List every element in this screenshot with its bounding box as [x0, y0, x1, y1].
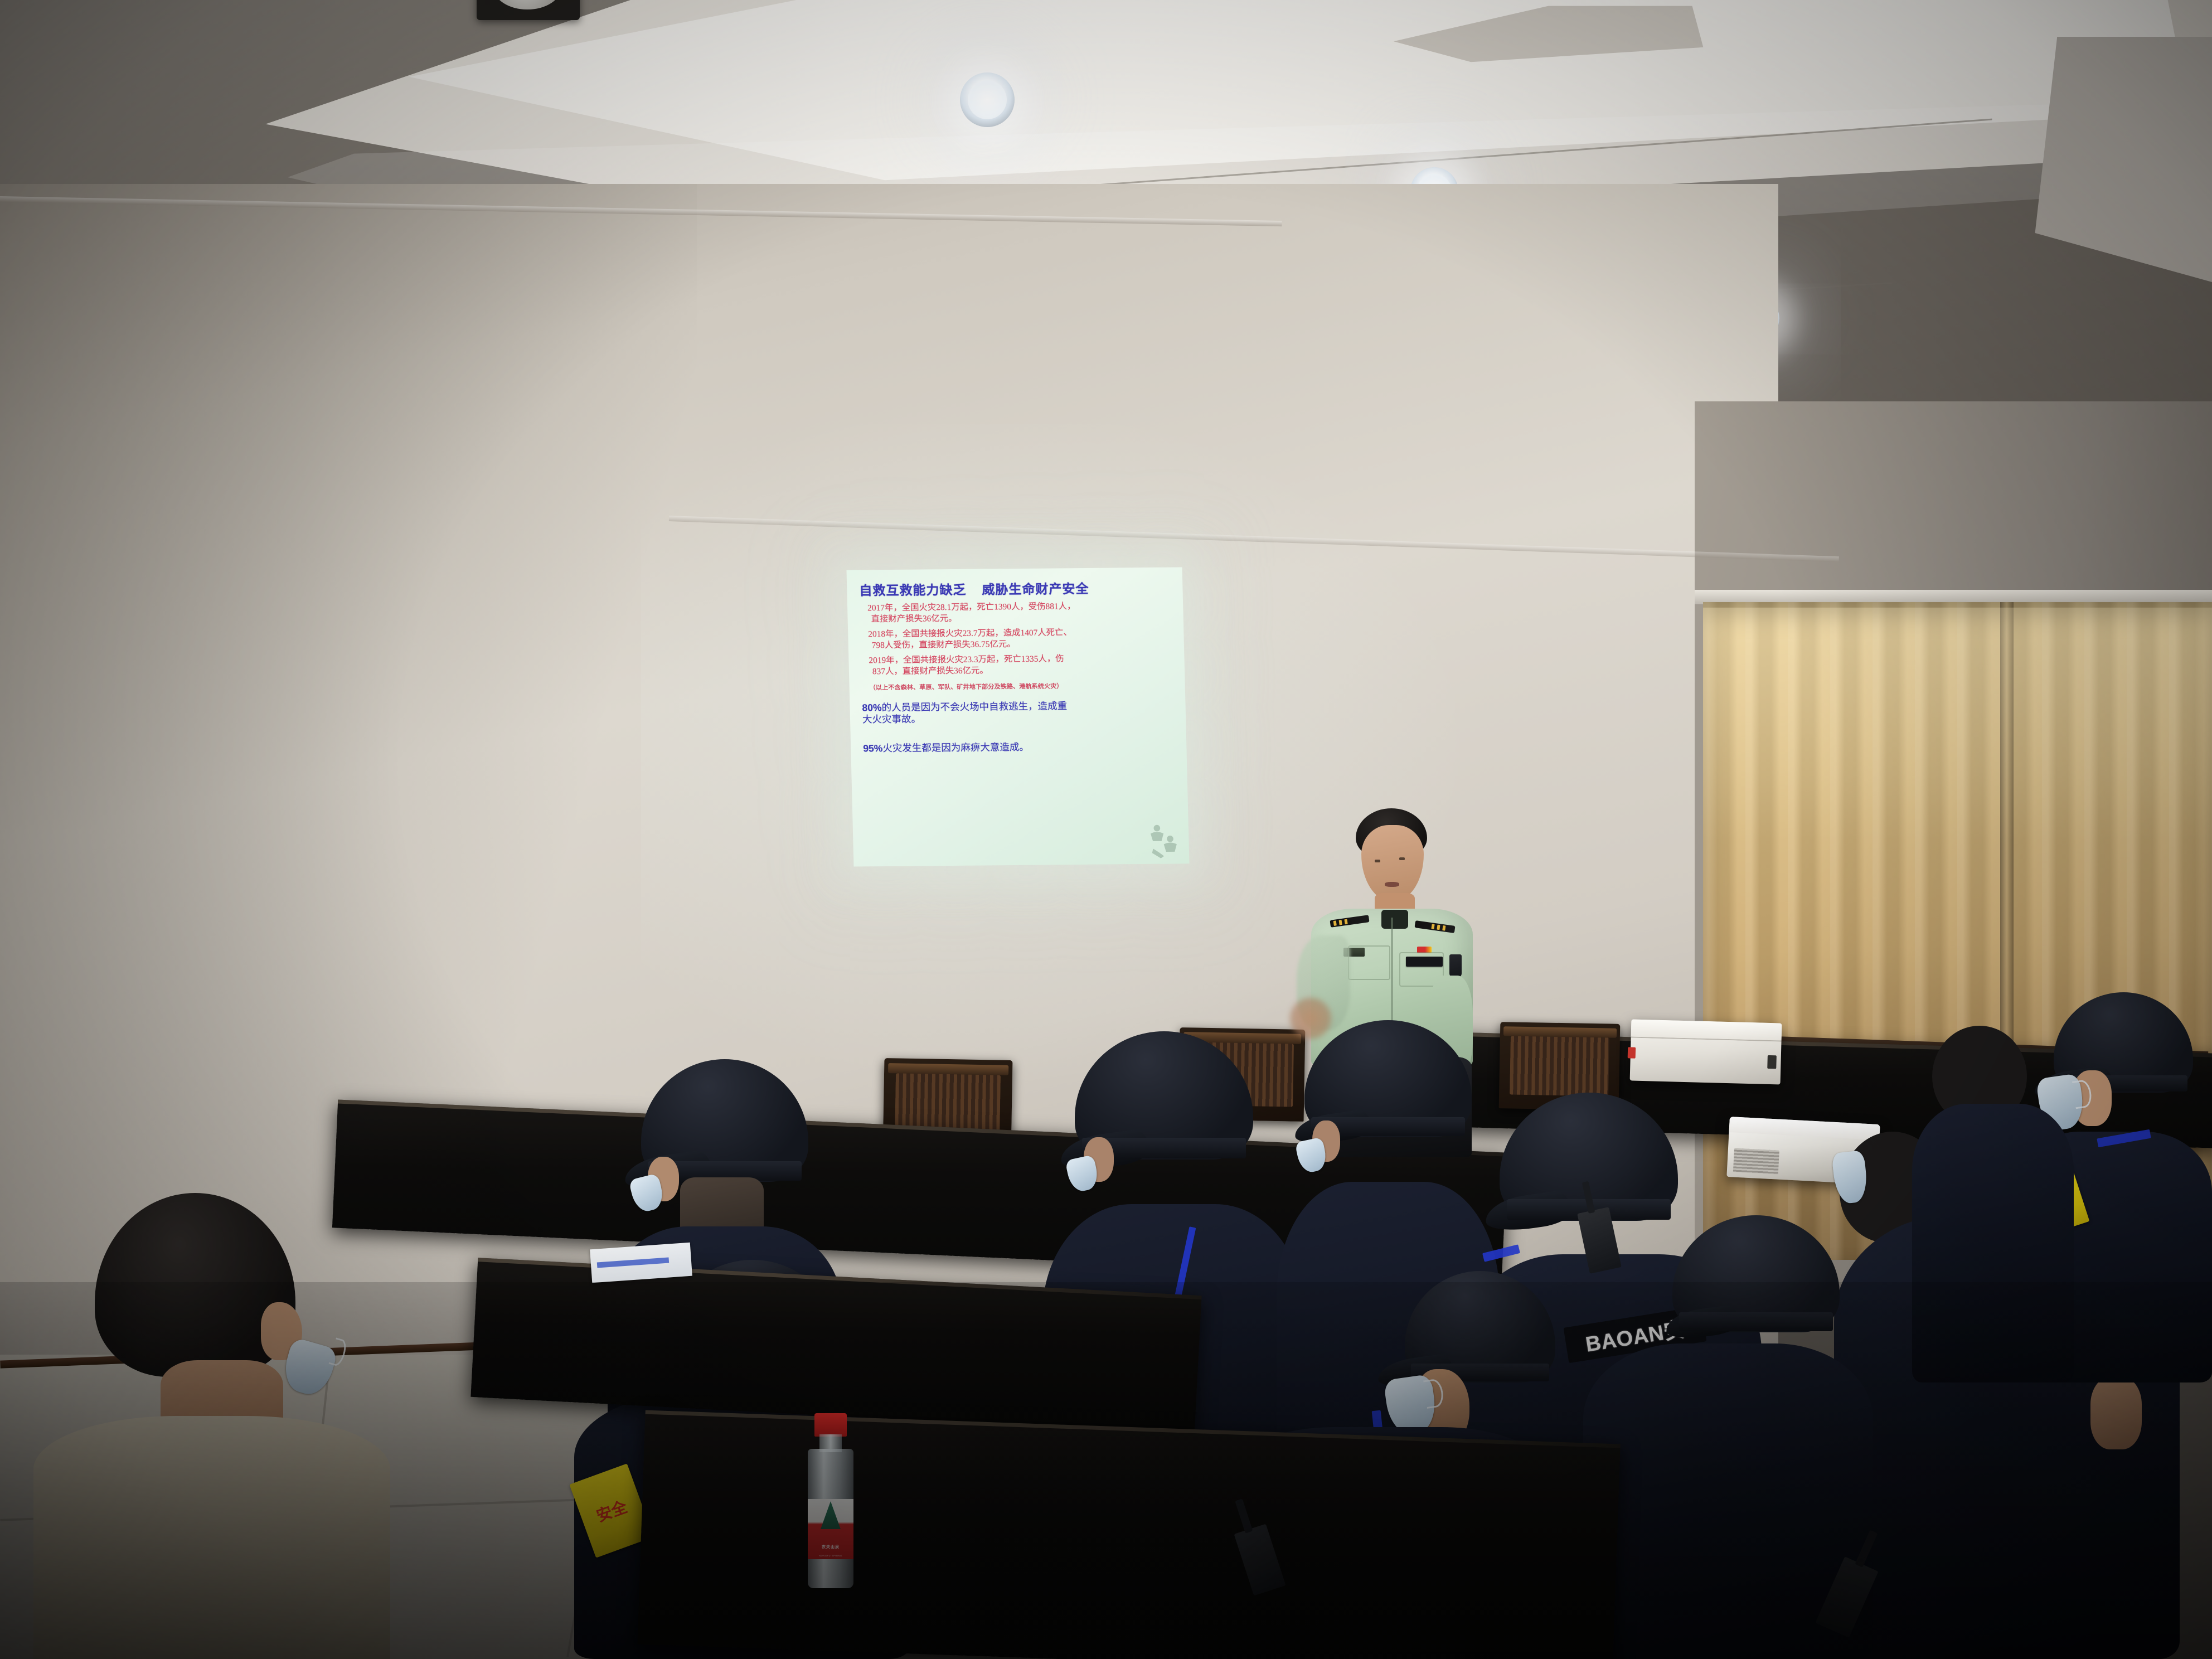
guard-torso: [1912, 1104, 2074, 1382]
projected-slide: 自救互救能力缺乏 威胁生命财产安全 2017年，全国火灾28.1万起，死亡139…: [846, 567, 1189, 866]
scene-root: 自救互救能力缺乏 威胁生命财产安全 2017年，全国火灾28.1万起，死亡139…: [0, 0, 2212, 1659]
speaker-face: [1361, 825, 1424, 902]
slide-title-right: 威胁生命财产安全: [982, 578, 1089, 598]
bottle-label: 农夫山泉 NONGFU SPRING: [808, 1499, 853, 1560]
uniform-cap: [1672, 1215, 1840, 1332]
slide-emphasis-95: 95%火灾发生都是因为麻痹大意造成。: [863, 740, 1178, 754]
uniform-cap: [1304, 1020, 1472, 1137]
downlight: [960, 72, 1015, 127]
speaker-arm-patch: [1449, 954, 1462, 978]
slide-emphasis-80: 80%的人员是因为不会火场中自救逃生，造成重 大火灾事故。: [862, 700, 1177, 726]
slide-stat-2017: 2017年，全国火灾28.1万起，死亡1390人，受伤881人， 直接财产损失3…: [860, 600, 1175, 625]
audience-member-civilian: [33, 1193, 390, 1659]
hand: [2090, 1377, 2142, 1449]
speaker-mouth: [1385, 882, 1399, 887]
slide-emphasis-95-percent: 95%: [863, 743, 883, 754]
slide-footnote: （以上不含森林、草原、军队、矿井地下部分及铁路、港航系统火灾）: [861, 681, 1176, 692]
slide-stat-2018: 2018年，全国共接报火灾23.7万起，造成1407人死亡、 798人受伤，直接…: [860, 627, 1175, 652]
bottle-brand-en: NONGFU SPRING: [808, 1554, 853, 1557]
slide-emphasis-80-percent: 80%: [862, 702, 882, 713]
mountain-logo-icon: [821, 1501, 841, 1529]
wall-clock: [477, 0, 580, 20]
bottle-cap: [814, 1413, 847, 1437]
foreground-table: [637, 1410, 1621, 1659]
speaker-eye-left: [1375, 860, 1380, 862]
fire-safety-emblem-icon: [1147, 822, 1181, 858]
slide-title: 自救互救能力缺乏 威胁生命财产安全: [859, 578, 1174, 599]
bottle-brand-cn: 农夫山泉: [808, 1544, 853, 1550]
slide-stat-2019: 2019年，全国共接报火灾23.3万起，死亡1335人，伤 837人，直接财产损…: [861, 653, 1176, 678]
audience-member-guard: [1912, 1026, 2074, 1382]
civilian-shirt: [33, 1416, 390, 1659]
equipment-case: [1630, 1019, 1782, 1084]
speaker-pocket-left: [1348, 945, 1390, 980]
speaker-collar-gap: [1381, 910, 1408, 929]
uniform-cap: [1405, 1271, 1555, 1382]
papers-on-table: [590, 1243, 692, 1283]
lanyard: [1482, 1244, 1520, 1262]
water-bottle: 农夫山泉 NONGFU SPRING: [797, 1413, 864, 1592]
slide-title-left: 自救互救能力缺乏: [859, 579, 967, 599]
speaker-eye-right: [1399, 857, 1405, 860]
